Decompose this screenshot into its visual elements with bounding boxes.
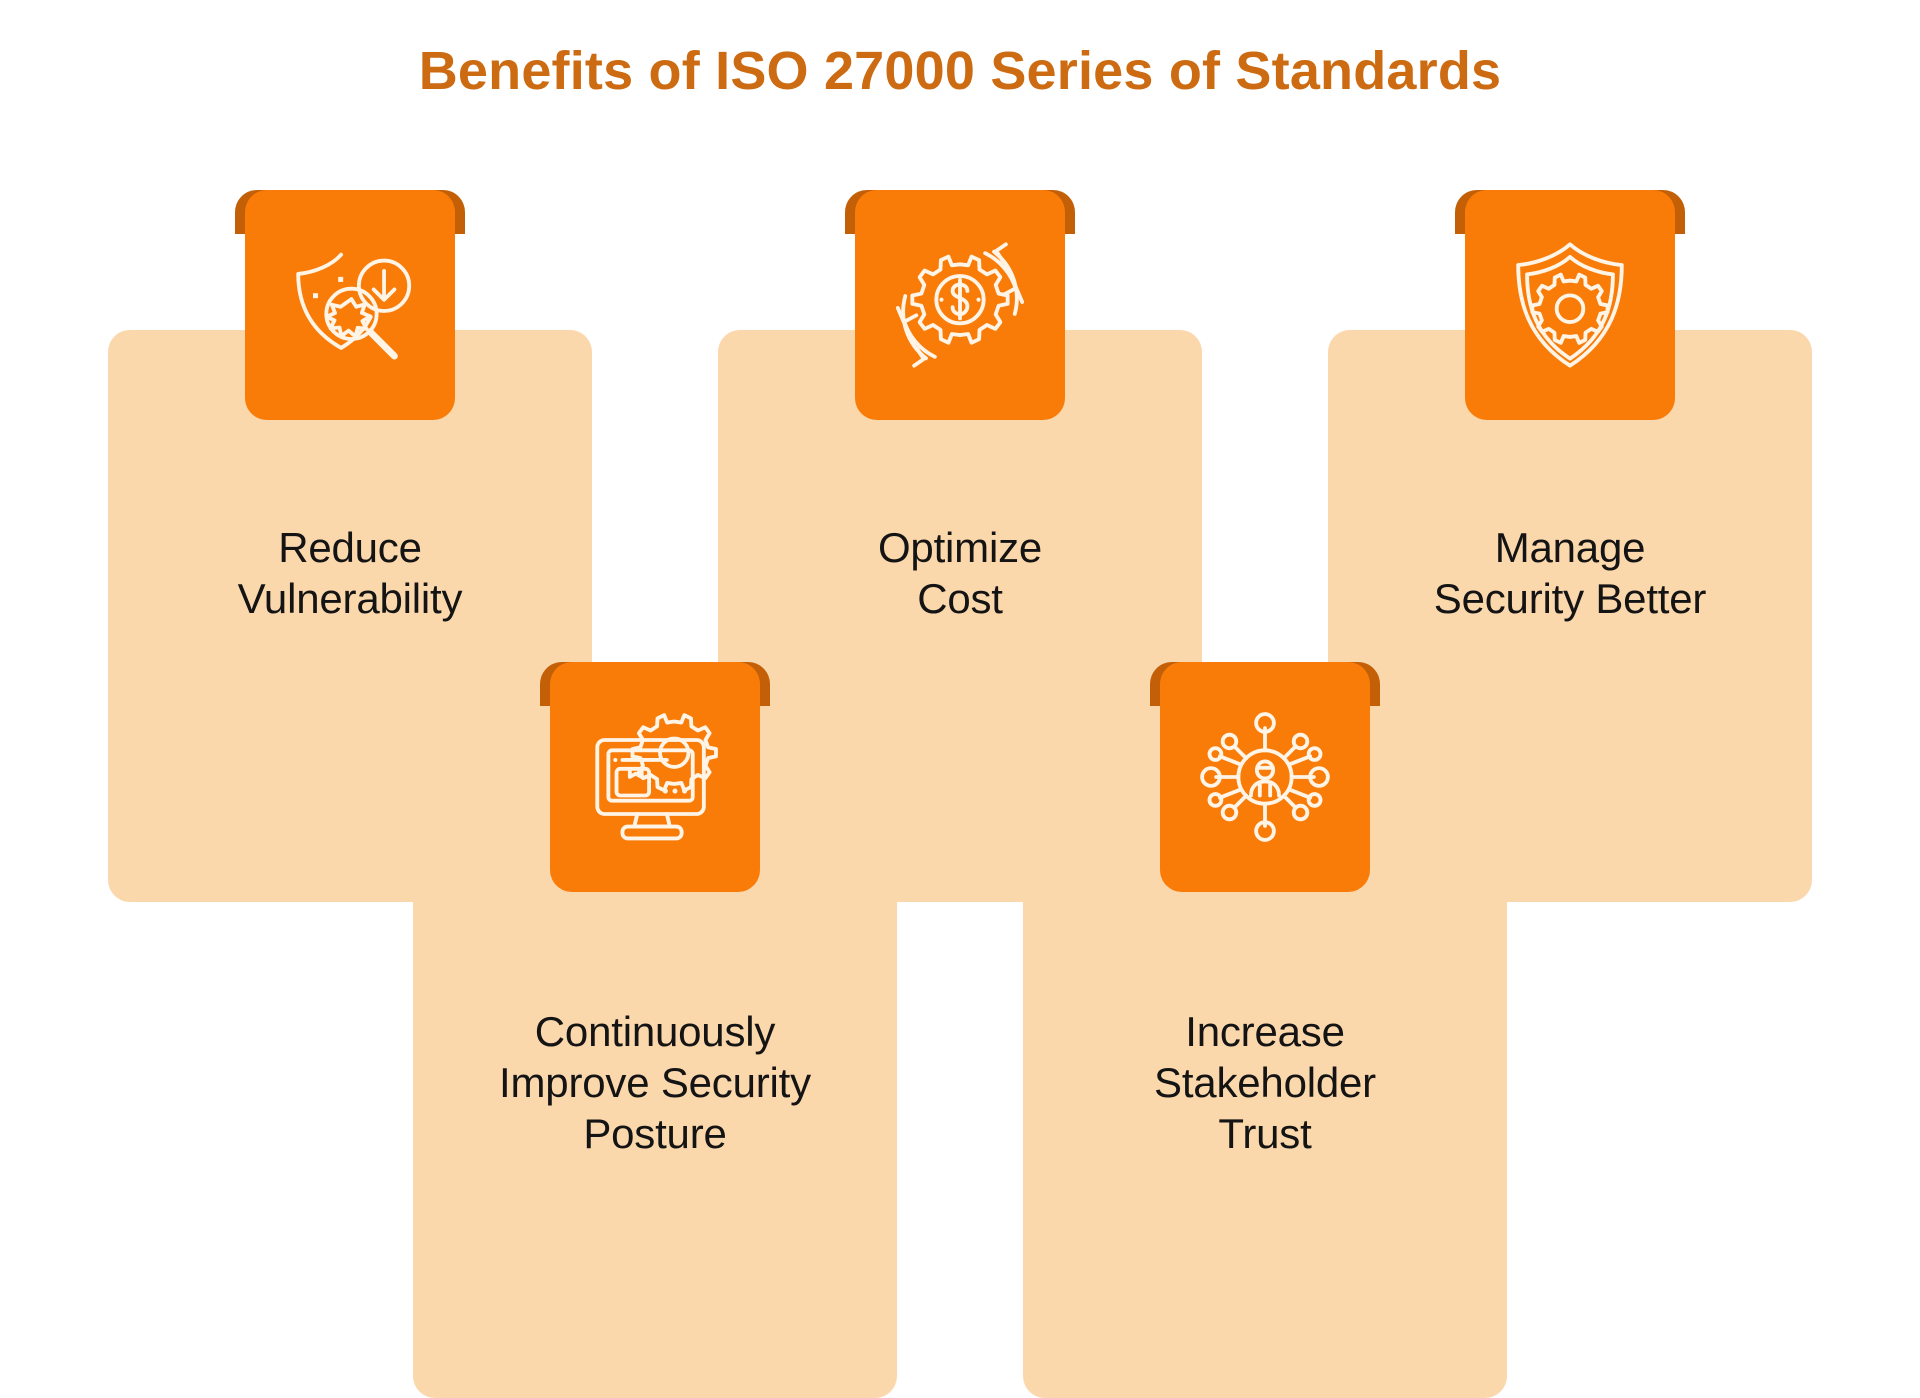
card-label: Reduce Vulnerability	[224, 522, 477, 624]
gear-dollar-cycle-icon	[886, 231, 1034, 379]
badge-face	[245, 190, 455, 420]
shield-gear-icon	[1496, 231, 1644, 379]
monitor-gear-icon	[581, 703, 729, 851]
page-title: Benefits of ISO 27000 Series of Standard…	[0, 40, 1920, 102]
badge-optimize-cost	[845, 190, 1075, 420]
shield-magnifier-virus-download-icon	[276, 231, 424, 379]
card-label: Optimize Cost	[864, 522, 1056, 624]
badge-face	[1160, 662, 1370, 892]
badge-increase-stakeholder-trust	[1150, 662, 1380, 892]
badge-continuously-improve-security-posture	[540, 662, 770, 892]
person-network-nodes-icon	[1191, 703, 1339, 851]
infographic-page: Benefits of ISO 27000 Series of Standard…	[0, 0, 1920, 1341]
badge-reduce-vulnerability	[235, 190, 465, 420]
card-label: Manage Security Better	[1420, 522, 1720, 624]
card-label: Continuously Improve Security Posture	[485, 1006, 825, 1160]
badge-face	[1465, 190, 1675, 420]
badge-manage-security-better	[1455, 190, 1685, 420]
card-continuously-improve-security-posture[interactable]: Continuously Improve Security Posture	[413, 662, 897, 1398]
badge-face	[855, 190, 1065, 420]
badge-face	[550, 662, 760, 892]
card-increase-stakeholder-trust[interactable]: Increase Stakeholder Trust	[1023, 662, 1507, 1398]
card-row-bottom: Continuously Improve Security Posture	[0, 662, 1920, 1398]
card-label: Increase Stakeholder Trust	[1140, 1006, 1390, 1160]
